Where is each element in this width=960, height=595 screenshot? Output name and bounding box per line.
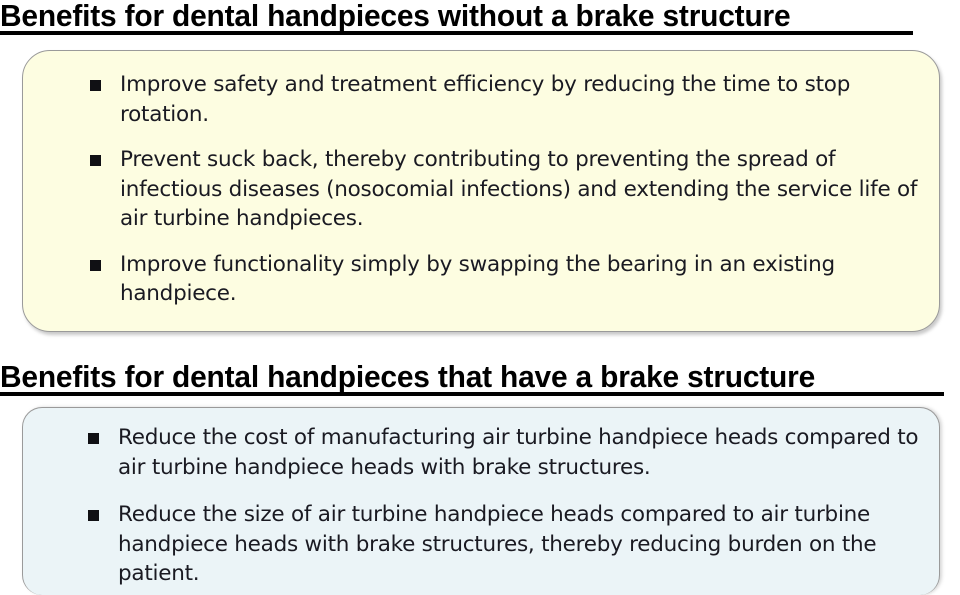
benefits-without-brake-panel: Improve safety and treatment efficiency … [22, 50, 940, 332]
list-item-text: Improve safety and treatment efficiency … [120, 70, 919, 129]
section-heading-without-brake-text: Benefits for dental handpieces without a… [0, 0, 790, 32]
section-heading-without-brake: Benefits for dental handpieces without a… [0, 0, 819, 32]
list-item-text: Improve functionality simply by swapping… [120, 250, 919, 309]
section-heading-underline-with-brake [0, 392, 944, 396]
list-item-text: Reduce the cost of manufacturing air tur… [118, 423, 919, 482]
section-heading-with-brake-text: Benefits for dental handpieces that have… [0, 361, 815, 393]
section-heading-underline-without-brake [0, 31, 913, 35]
list-item: Reduce the size of air turbine handpiece… [88, 500, 919, 589]
list-item-text: Prevent suck back, thereby contributing … [120, 145, 919, 234]
list-item: Improve functionality simply by swapping… [90, 250, 919, 309]
list-item: Improve safety and treatment efficiency … [90, 70, 919, 129]
bullet-square-icon [88, 433, 99, 444]
list-item-text: Reduce the size of air turbine handpiece… [118, 500, 919, 589]
bullet-square-icon [90, 155, 101, 166]
benefits-with-brake-panel: Reduce the cost of manufacturing air tur… [22, 407, 940, 595]
bullet-square-icon [88, 510, 99, 521]
bullet-square-icon [90, 80, 101, 91]
list-item: Prevent suck back, thereby contributing … [90, 145, 919, 234]
benefits-without-brake-list: Improve safety and treatment efficiency … [23, 51, 939, 309]
section-heading-with-brake: Benefits for dental handpieces that have… [0, 361, 845, 393]
list-item: Reduce the cost of manufacturing air tur… [88, 423, 919, 482]
bullet-square-icon [90, 260, 101, 271]
benefits-with-brake-list: Reduce the cost of manufacturing air tur… [23, 408, 939, 589]
